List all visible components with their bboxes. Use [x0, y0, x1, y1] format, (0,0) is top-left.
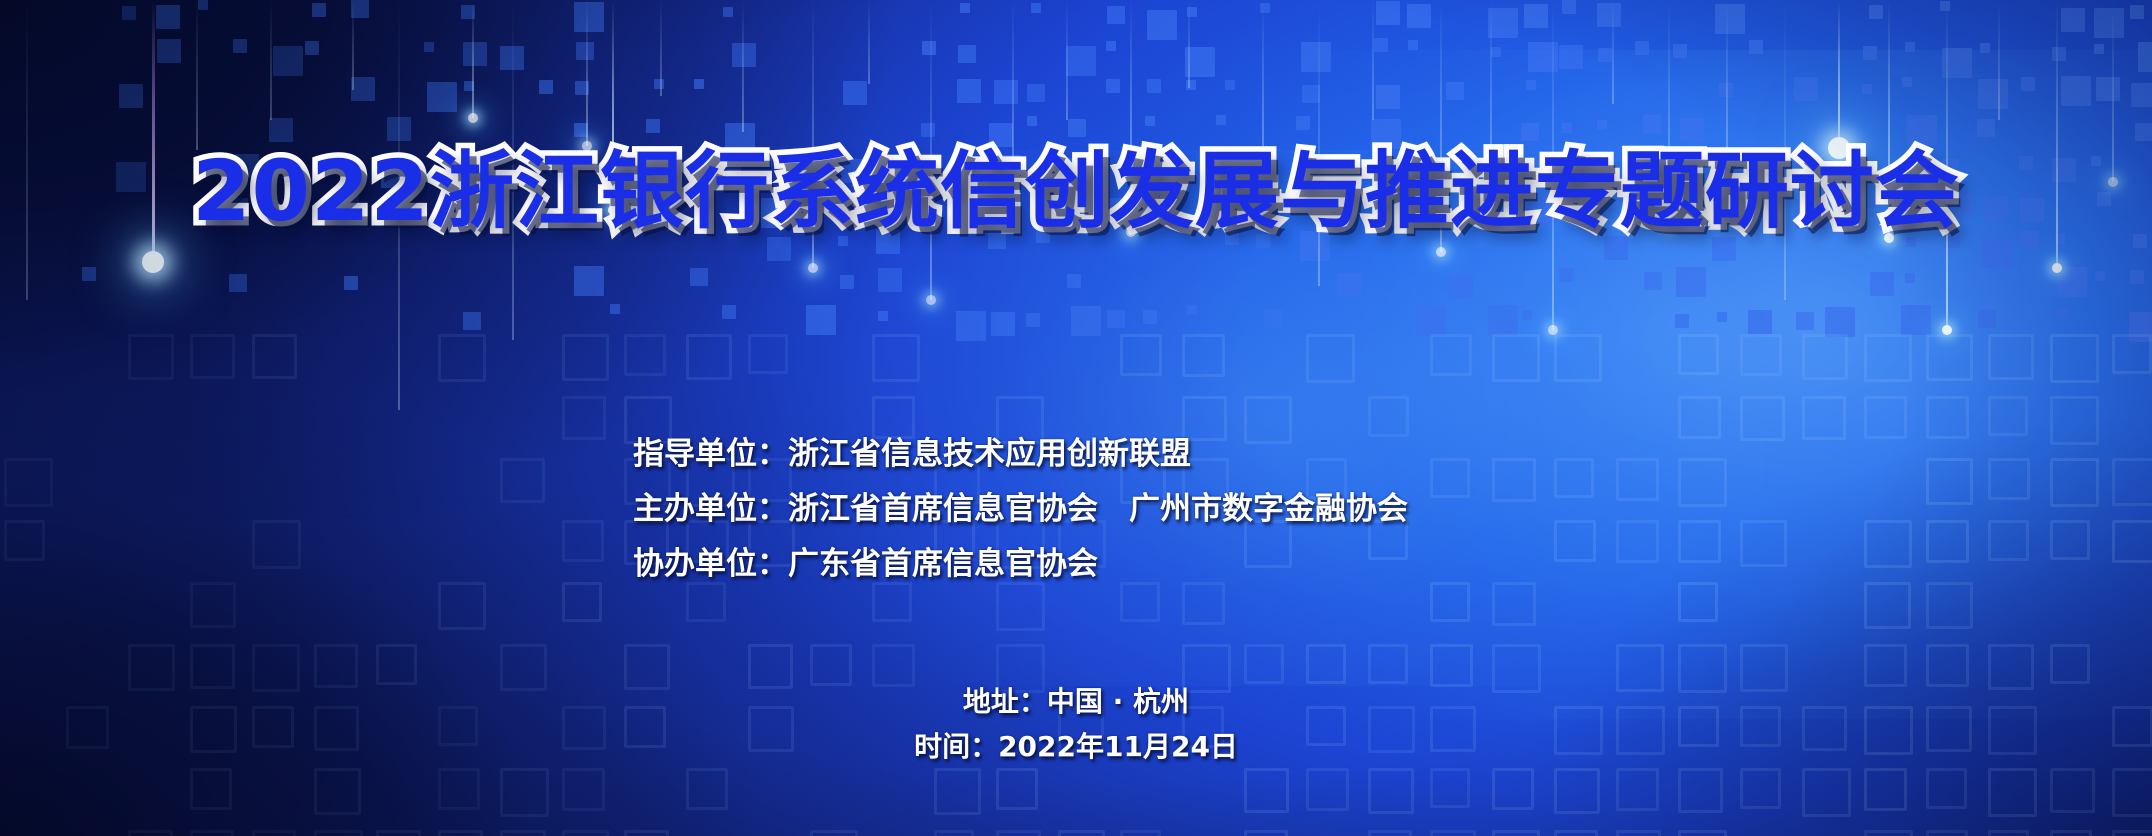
organizer-line-host: 主办单位：浙江省首席信息官协会 广州市数字金融协会 — [633, 482, 1408, 537]
organizer-line-co-host: 协办单位：广东省首席信息官协会 — [633, 537, 1408, 592]
event-details: 地址：中国 · 杭州 时间：2022年11月24日 — [0, 679, 2152, 769]
conference-banner: 2022浙江银行系统信创发展与推进专题研讨会 指导单位：浙江省信息技术应用创新联… — [0, 0, 2152, 836]
organizer-list: 指导单位：浙江省信息技术应用创新联盟 主办单位：浙江省首席信息官协会 广州市数字… — [633, 427, 1408, 592]
organizer-line-guidance: 指导单位：浙江省信息技术应用创新联盟 — [633, 427, 1408, 482]
event-location: 地址：中国 · 杭州 — [0, 679, 2152, 724]
page-title: 2022浙江银行系统信创发展与推进专题研讨会 — [0, 144, 2152, 238]
event-date: 时间：2022年11月24日 — [0, 724, 2152, 769]
